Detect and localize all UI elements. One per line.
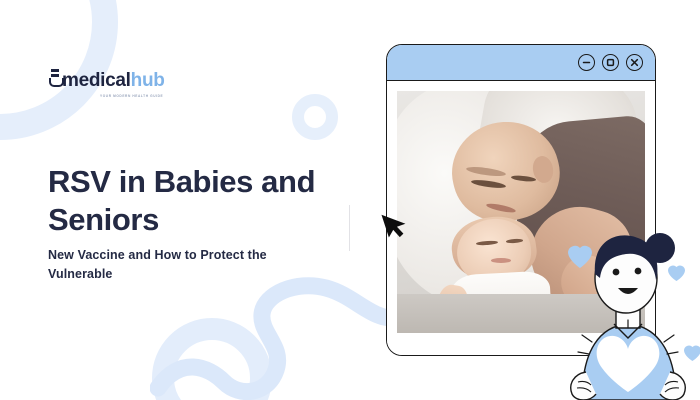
poster-canvas: medical hub YOUR MODERN HEALTH GUIDE RSV…: [0, 0, 700, 400]
logo-tagline: YOUR MODERN HEALTH GUIDE: [100, 94, 165, 98]
window-titlebar[interactable]: [387, 45, 655, 81]
brand-logo[interactable]: medical hub YOUR MODERN HEALTH GUIDE: [48, 66, 165, 98]
nurse-illustration: [556, 222, 700, 400]
arrow-pointer-icon: [381, 209, 411, 241]
minimize-button[interactable]: [578, 54, 595, 71]
logo-text-secondary: hub: [131, 70, 165, 92]
decorative-arc-bottom: [152, 318, 272, 400]
floating-heart-icon: [668, 266, 685, 281]
square-icon: [605, 57, 616, 68]
decorative-ring: [292, 94, 338, 140]
close-x-icon: [629, 57, 640, 68]
minus-icon: [581, 57, 592, 68]
maximize-button[interactable]: [602, 54, 619, 71]
logo-text-primary: medical: [62, 70, 131, 92]
vertical-divider: [349, 205, 350, 251]
page-subtitle: New Vaccine and How to Protect the Vulne…: [48, 246, 318, 284]
close-button[interactable]: [626, 54, 643, 71]
floating-heart-icon: [684, 346, 700, 361]
page-title: RSV in Babies and Seniors: [48, 163, 368, 239]
floating-heart-icon: [568, 246, 592, 268]
medical-cup-icon: [48, 66, 61, 86]
